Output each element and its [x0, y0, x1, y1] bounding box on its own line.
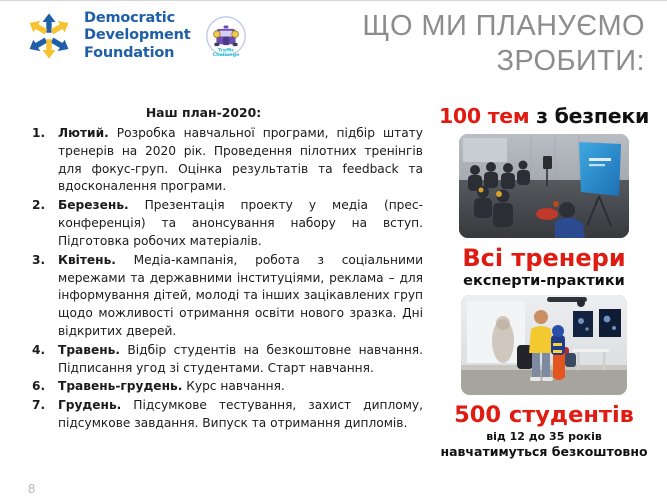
trainers-title: Всі тренери: [428, 245, 660, 271]
traffic-challenge-logo: Traffic Challenge: [202, 13, 250, 61]
presentation-slide: Democratic Development Foundation: [0, 0, 667, 500]
plan-item-month: Травень-грудень.: [58, 379, 182, 393]
plan-section: Наш план-2020: 1.Лютий. Розробка навчаль…: [28, 105, 423, 434]
plan-item-month: Грудень.: [58, 398, 121, 412]
highlights-section: 100 тем з безпеки: [428, 105, 660, 459]
plan-list-item: 2.Березень. Презентація проекту у медіа …: [28, 197, 423, 250]
ddf-logo-text: Democratic Development Foundation: [84, 10, 190, 61]
plan-item-number: 7.: [32, 397, 45, 415]
students-age-range: від 12 до 35 років: [428, 430, 660, 443]
plan-list-item: 6.Травень-грудень. Курс навчання.: [28, 378, 423, 396]
topics-rest: з безпеки: [529, 104, 649, 128]
plan-heading: Наш план-2020:: [28, 105, 423, 120]
plan-item-number: 4.: [32, 342, 45, 360]
plan-item-month: Квітень.: [58, 253, 116, 267]
training-classroom-photo: [459, 134, 629, 238]
democratic-development-foundation-logo: [22, 9, 76, 63]
plan-item-text: Розробка навчальної програми, підбір шта…: [58, 126, 423, 193]
page-number: 8: [28, 481, 35, 496]
plan-item-month: Лютий.: [58, 126, 109, 140]
plan-item-number: 3.: [32, 252, 45, 270]
plan-list-item: 7.Грудень. Підсумкове тестування, захист…: [28, 397, 423, 433]
page-title-line-1: ЩО МИ ПЛАНУЄМО: [325, 9, 645, 44]
traffic-logo-line-1: Traffic: [218, 47, 235, 53]
topics-callout: 100 тем з безпеки: [428, 105, 660, 128]
plan-list-item: 3.Квітень. Медіа-кампанія, робота з соці…: [28, 252, 423, 341]
plan-item-month: Березень.: [58, 198, 129, 212]
logo-group: Democratic Development Foundation: [22, 9, 250, 63]
page-title-line-2: ЗРОБИТИ:: [325, 44, 645, 79]
plan-item-number: 6.: [32, 378, 45, 396]
students-title: 500 студентів: [428, 403, 660, 428]
plan-item-number: 2.: [32, 197, 45, 215]
slide-header: Democratic Development Foundation: [0, 1, 667, 93]
plan-list-item: 4.Травень. Відбір студентів на безкоштов…: [28, 342, 423, 378]
plan-list: 1.Лютий. Розробка навчальної програми, п…: [28, 125, 423, 433]
plan-item-month: Травень.: [58, 343, 120, 357]
students-free-note: навчатимуться безкоштовно: [428, 444, 660, 459]
trainer-demonstration-photo: [461, 295, 627, 395]
plan-item-text: Курс навчання.: [182, 379, 284, 393]
plan-list-item: 1.Лютий. Розробка навчальної програми, п…: [28, 125, 423, 196]
topics-number: 100 тем: [439, 104, 529, 128]
traffic-logo-line-2: Challenge: [213, 52, 240, 58]
page-title: ЩО МИ ПЛАНУЄМО ЗРОБИТИ:: [325, 9, 645, 80]
plan-item-number: 1.: [32, 125, 45, 143]
trainers-subtitle: експерти-практики: [428, 273, 660, 289]
